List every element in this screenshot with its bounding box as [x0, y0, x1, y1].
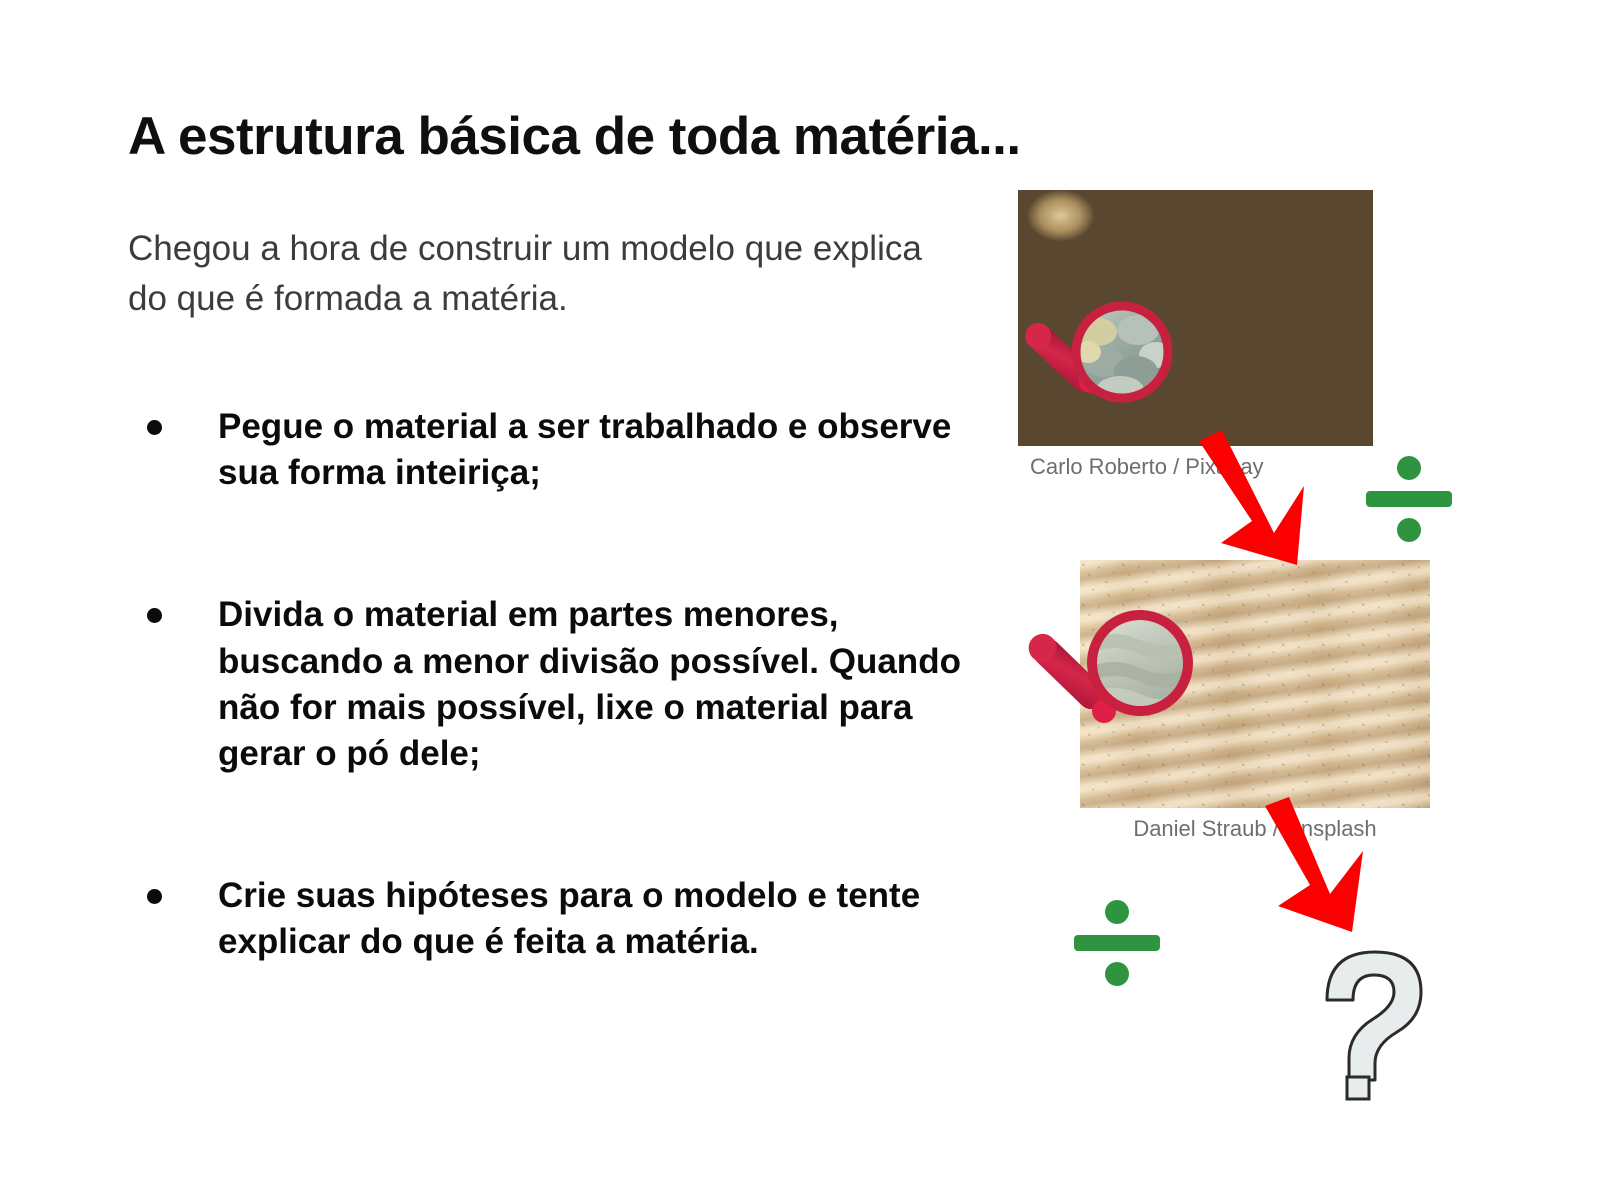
bullet-dot-icon: [147, 420, 162, 435]
sand-grain-overlay: [1080, 560, 1430, 808]
list-item-label: Pegue o material a ser trabalhado e obse…: [218, 407, 951, 492]
question-mark-icon: [1327, 952, 1421, 1099]
slide-subtitle: Chegou a hora de construir um modelo que…: [128, 224, 928, 323]
divide-pip-bottom: [1105, 962, 1129, 986]
list-item: Crie suas hipóteses para o modelo e tent…: [140, 873, 1000, 965]
sand-photo-caption: Daniel Straub / Unsplash: [1080, 808, 1430, 842]
divide-pip-top: [1105, 900, 1129, 924]
rocks-photo-caption: Carlo Roberto / Pixabay: [1018, 446, 1385, 480]
list-item: Pegue o material a ser trabalhado e obse…: [140, 404, 1000, 496]
sand-figure: Daniel Straub / Unsplash: [1080, 560, 1430, 808]
rocks-photo: [1018, 190, 1373, 446]
rocks-texture: [1018, 190, 1373, 446]
page-title: A estrutura básica de toda matéria...: [128, 108, 1128, 166]
slide-canvas: A estrutura básica de toda matéria... Ch…: [0, 0, 1600, 1200]
divide-bar: [1074, 935, 1160, 951]
divide-bar: [1366, 491, 1452, 507]
bullet-list: Pegue o material a ser trabalhado e obse…: [140, 404, 1000, 966]
rocks-figure: Carlo Roberto / Pixabay: [1018, 190, 1373, 446]
sand-photo: [1080, 560, 1430, 808]
divide-pip-bottom: [1397, 518, 1421, 542]
divide-icon: [1074, 896, 1160, 990]
list-item-label: Crie suas hipóteses para o modelo e tent…: [218, 876, 920, 961]
divide-pip-top: [1397, 456, 1421, 480]
list-item: Divida o material em partes menores, bus…: [140, 592, 1000, 777]
bullet-dot-icon: [147, 889, 162, 904]
divide-icon: [1366, 452, 1452, 546]
list-item-label: Divida o material em partes menores, bus…: [218, 595, 961, 773]
bullet-dot-icon: [147, 608, 162, 623]
